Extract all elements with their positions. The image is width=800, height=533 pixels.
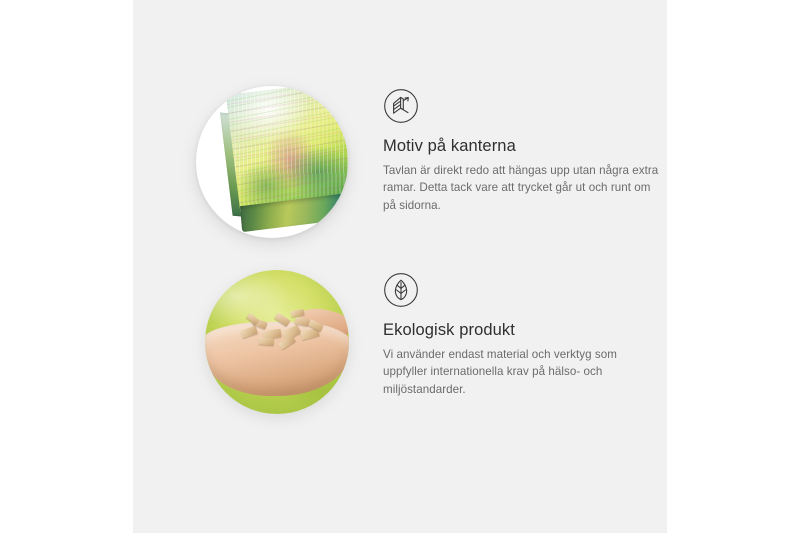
canvas-edge-print-icon — [383, 88, 419, 124]
feature-description: Tavlan är direkt redo att hängas upp uta… — [383, 162, 659, 215]
feature-title: Ekologisk produkt — [383, 321, 659, 341]
feature-copy-ekologisk: Ekologisk produkt Vi använder endast mat… — [383, 272, 659, 399]
feature-row-ekologisk: Ekologisk produkt Vi använder endast mat… — [133, 262, 667, 442]
feature-row-motiv: Motiv på kanterna Tavlan är direkt redo … — [133, 78, 667, 258]
canvas-print-photo — [196, 86, 348, 238]
feature-copy-motiv: Motiv på kanterna Tavlan är direkt redo … — [383, 88, 659, 215]
product-feature-banner: Motiv på kanterna Tavlan är direkt redo … — [0, 0, 800, 533]
canvas-front-face — [226, 86, 348, 212]
leaf-icon — [383, 272, 419, 308]
feature-title: Motiv på kanterna — [383, 137, 659, 157]
right-white-bar — [667, 0, 800, 533]
feature-description: Vi använder endast material och verktyg … — [383, 346, 659, 399]
canvas-print-object — [216, 86, 348, 235]
wood-chip-pile — [239, 308, 325, 352]
left-white-bar — [0, 0, 133, 533]
stage-content: Motiv på kanterna Tavlan är direkt redo … — [133, 0, 667, 533]
eco-hands-photo — [205, 270, 349, 414]
